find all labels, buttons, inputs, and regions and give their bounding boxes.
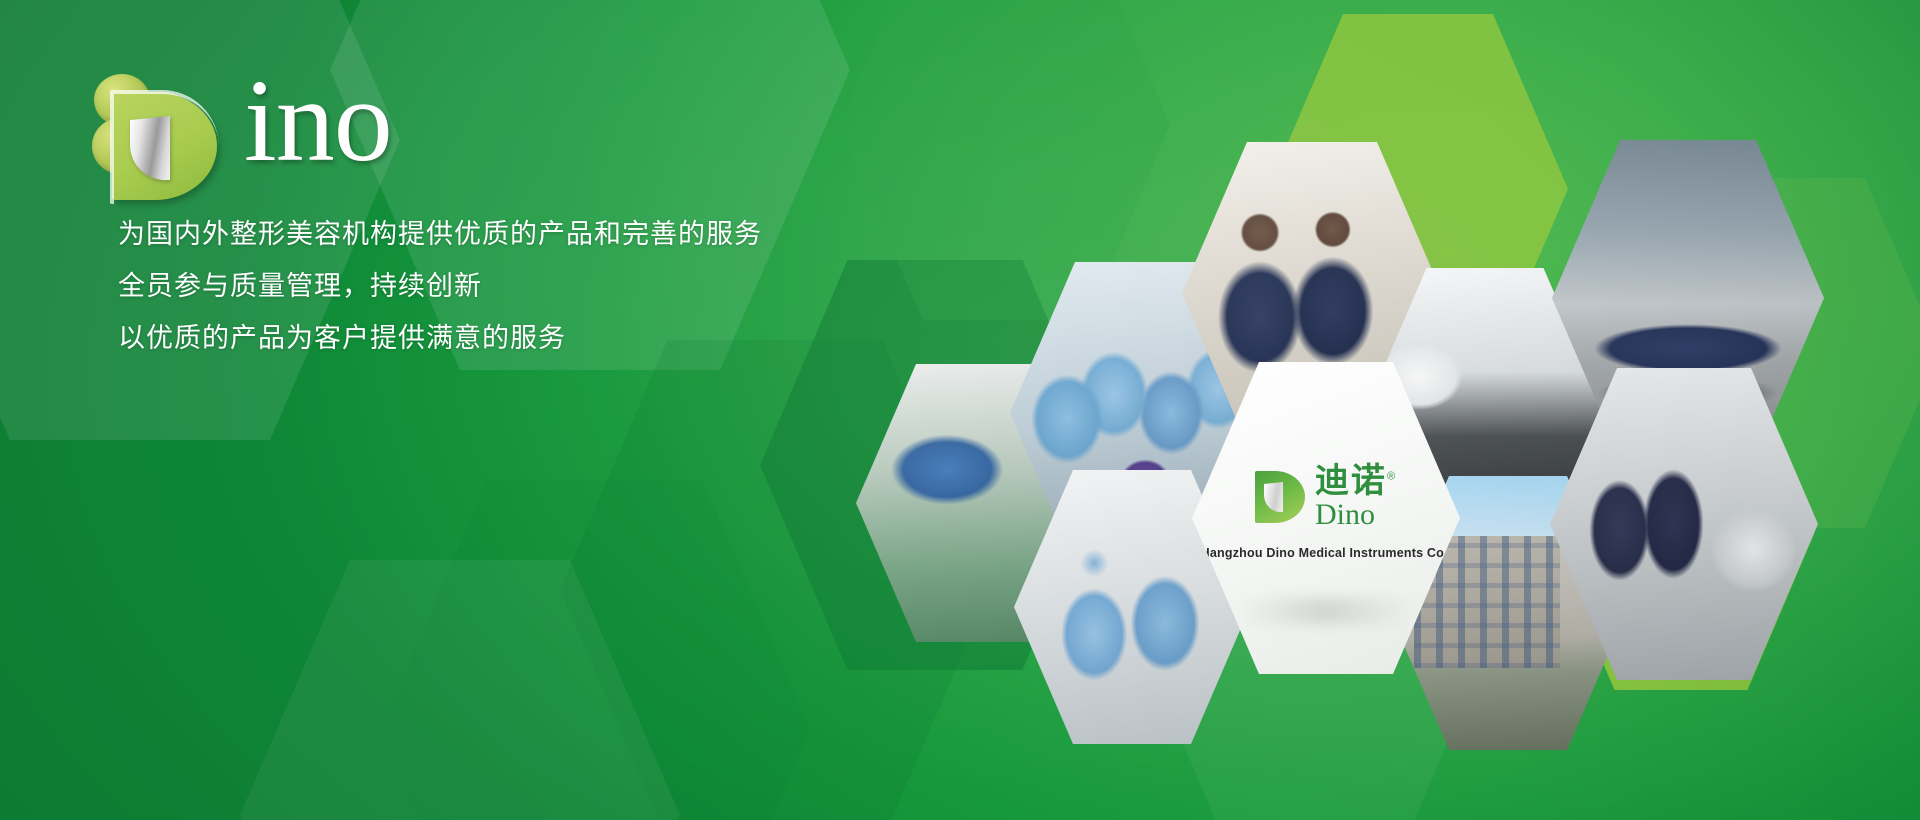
registered-mark-icon: ® (1387, 471, 1397, 483)
dino-leaf-logo-icon (1255, 471, 1305, 523)
badge-logo-row: 迪诺® Dino (1255, 464, 1397, 530)
badge-en-name: Dino (1315, 500, 1397, 530)
badge-cn-text: 迪诺 (1315, 462, 1387, 500)
tagline-line-1: 为国内外整形美容机构提供优质的产品和完善的服务 (118, 208, 762, 260)
hero-banner: ino 为国内外整形美容机构提供优质的产品和完善的服务 全员参与质量管理，持续创… (0, 0, 1920, 820)
badge-names: 迪诺® Dino (1315, 464, 1397, 530)
tagline-block: 为国内外整形美容机构提供优质的产品和完善的服务 全员参与质量管理，持续创新 以优… (118, 208, 762, 364)
tagline-line-2: 全员参与质量管理，持续创新 (118, 260, 762, 312)
badge-cn-name: 迪诺® (1315, 464, 1397, 498)
badge-company-line: Hangzhou Dino Medical Instruments Co.. (1201, 546, 1452, 560)
badge-blurred-strip (1240, 598, 1412, 624)
wordmark-text: ino (244, 62, 392, 180)
tagline-line-3: 以优质的产品为客户提供满意的服务 (118, 312, 762, 364)
brand-wordmark: ino (88, 66, 508, 191)
logo-frame (110, 90, 219, 204)
